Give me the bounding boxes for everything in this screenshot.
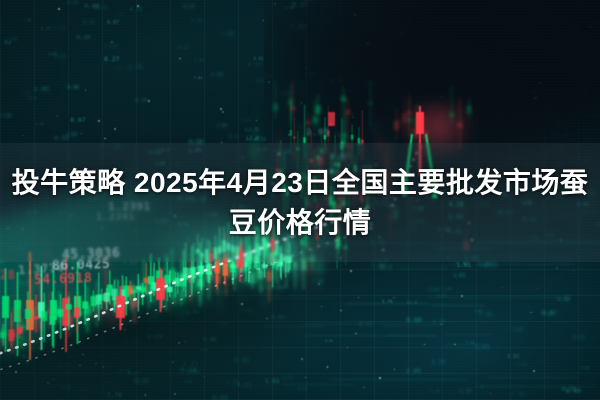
headline: 投牛策略 2025年4月23日全国主要批发市场蚕 豆价格行情 [0, 143, 600, 262]
price-label: 54.6918 [34, 271, 93, 288]
headline-line-1: 投牛策略 2025年4月23日全国主要批发市场蚕 [12, 163, 589, 203]
cover-image: 0.0712.85.621.057.020.844.557.414.199.14… [0, 0, 600, 400]
headline-line-2: 豆价格行情 [229, 203, 372, 243]
price-label: 28 [0, 268, 15, 282]
price-label: 2.95 [306, 128, 330, 138]
